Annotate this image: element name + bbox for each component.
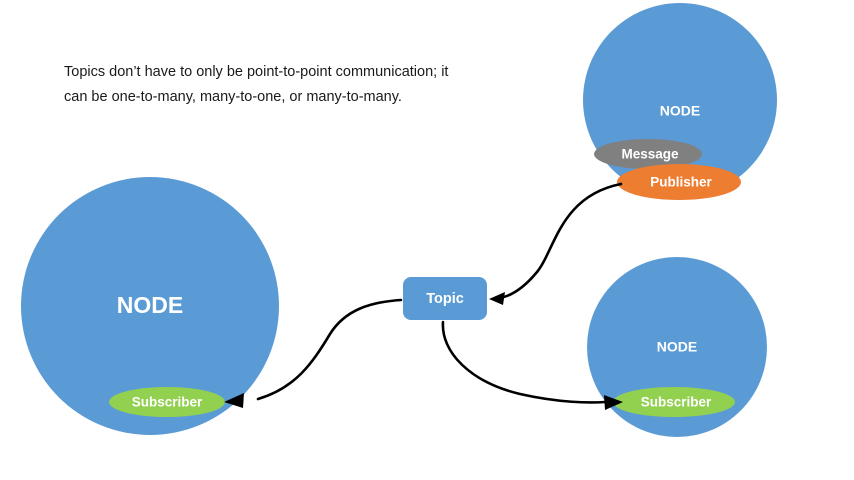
- node-label: NODE: [660, 103, 700, 119]
- subscriber-label: Subscriber: [641, 395, 712, 410]
- subscriber-label: Subscriber: [132, 395, 203, 410]
- publisher-label: Publisher: [650, 175, 712, 190]
- subscriber-right[interactable]: Subscriber: [613, 387, 735, 417]
- topic-label: Topic: [426, 291, 464, 307]
- message-label: Message: [621, 147, 679, 162]
- topic-box[interactable]: Topic: [403, 277, 487, 320]
- caption-line-1: Topics don’t have to only be point-to-po…: [64, 64, 448, 80]
- pubsub-topic-diagram: Topics don’t have to only be point-to-po…: [0, 0, 854, 480]
- subscriber-left[interactable]: Subscriber: [109, 387, 225, 417]
- caption-line-2: can be one-to-many, many-to-one, or many…: [64, 89, 402, 105]
- publisher[interactable]: Publisher: [617, 164, 741, 200]
- node-bottom-subscriber[interactable]: NODE Subscriber: [587, 257, 767, 437]
- node-label: NODE: [117, 292, 183, 318]
- node-label: NODE: [657, 339, 697, 355]
